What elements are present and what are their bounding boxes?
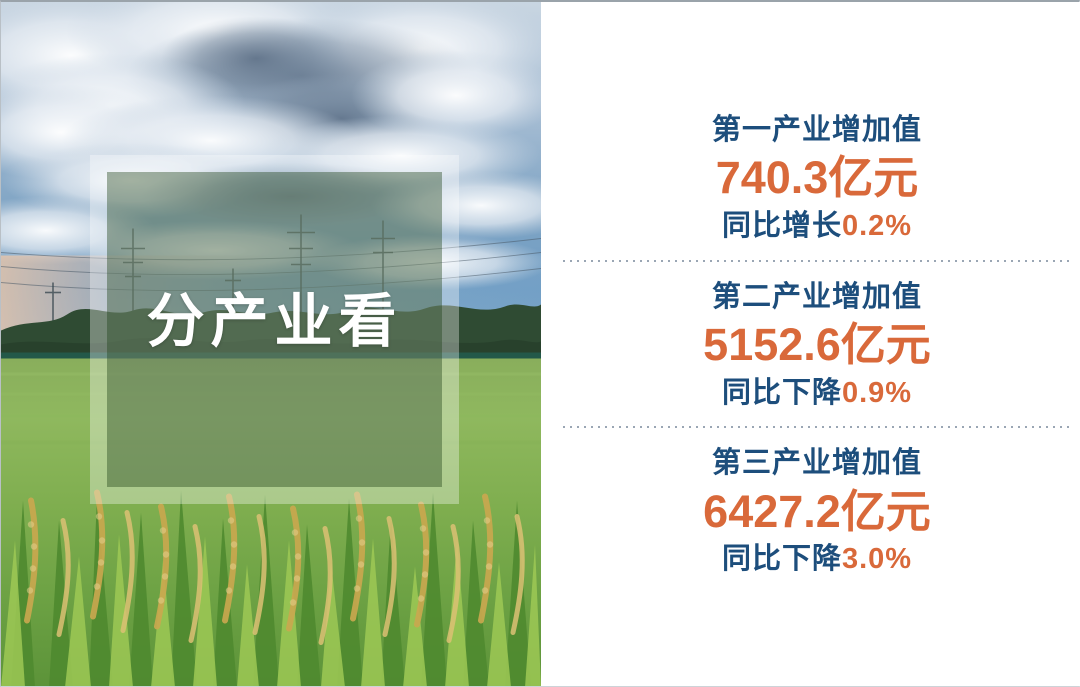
stat-change: 同比增长0.2% xyxy=(563,207,1071,246)
stat-block-secondary-industry: 第二产业增加值 5152.6亿元 同比下降0.9% xyxy=(563,262,1071,427)
stat-label: 第一产业增加值 xyxy=(563,111,1071,149)
stat-change-prefix: 同比增长 xyxy=(722,210,842,242)
stat-change-percent: 0.2% xyxy=(842,210,912,242)
stat-value: 5152.6亿元 xyxy=(563,316,1071,374)
stat-value: 740.3亿元 xyxy=(563,149,1071,207)
stat-block-tertiary-industry: 第三产业增加值 6427.2亿元 同比下降3.0% xyxy=(563,428,1071,581)
title-overlay-frame: 分产业看 xyxy=(90,155,459,504)
stat-change-prefix: 同比下降 xyxy=(722,377,842,409)
stat-label: 第二产业增加值 xyxy=(563,278,1071,316)
stat-value: 6427.2亿元 xyxy=(563,483,1071,541)
stat-change-percent: 0.9% xyxy=(842,377,912,409)
stat-change: 同比下降3.0% xyxy=(563,540,1071,579)
stat-change: 同比下降0.9% xyxy=(563,374,1071,413)
statistics-panel: 第一产业增加值 740.3亿元 同比增长0.2% 第二产业增加值 5152.6亿… xyxy=(541,2,1080,686)
stat-block-primary-industry: 第一产业增加值 740.3亿元 同比增长0.2% xyxy=(563,107,1071,260)
photo-panel: 分产业看 xyxy=(1,2,541,686)
slide-root: 分产业看 第一产业增加值 740.3亿元 同比增长0.2% 第二产业增加值 51… xyxy=(0,0,1080,687)
page-title: 分产业看 xyxy=(146,293,402,351)
title-overlay-tint: 分产业看 xyxy=(107,172,442,487)
stat-change-prefix: 同比下降 xyxy=(722,543,842,575)
stat-change-percent: 3.0% xyxy=(842,543,912,575)
stat-label: 第三产业增加值 xyxy=(563,444,1071,482)
